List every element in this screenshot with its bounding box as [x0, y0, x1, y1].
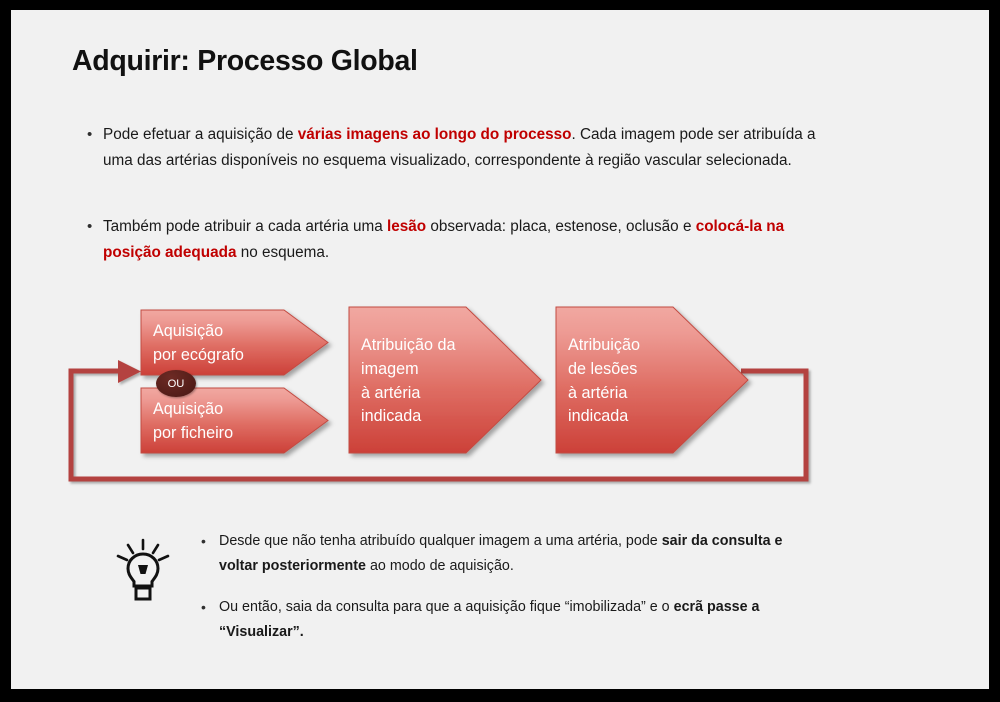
bullet-text: Pode efetuar a aquisição de várias image…: [103, 122, 827, 173]
step-atribuicao-imagem[interactable]: [349, 307, 541, 453]
lightbulb-icon: [115, 538, 171, 604]
note-marker: •: [201, 595, 219, 619]
bullet-item-1: • Pode efetuar a aquisição de várias ima…: [87, 122, 827, 173]
note-text: Desde que não tenha atribuído qualquer i…: [219, 529, 801, 578]
step-atribuicao-lesoes[interactable]: [556, 307, 748, 453]
bullet-text: Também pode atribuir a cada artéria uma …: [103, 214, 787, 265]
page-title: Adquirir: Processo Global: [72, 45, 418, 78]
slide-frame: Adquirir: Processo Global • Pode efetuar…: [0, 0, 1000, 702]
note-marker: •: [201, 529, 219, 553]
bullet-marker: •: [87, 122, 103, 147]
step-aquisicao-ecografo[interactable]: [141, 310, 328, 375]
note-item-1: • Desde que não tenha atribuído qualquer…: [201, 529, 801, 578]
bullet-marker: •: [87, 214, 103, 239]
slide-canvas: Adquirir: Processo Global • Pode efetuar…: [11, 10, 989, 689]
step-aquisicao-ficheiro[interactable]: [141, 388, 328, 453]
note-text: Ou então, saia da consulta para que a aq…: [219, 595, 801, 644]
note-item-2: • Ou então, saia da consulta para que a …: [201, 595, 801, 644]
connector-badge-ou: OU: [156, 370, 196, 397]
bullet-item-2: • Também pode atribuir a cada artéria um…: [87, 214, 787, 265]
